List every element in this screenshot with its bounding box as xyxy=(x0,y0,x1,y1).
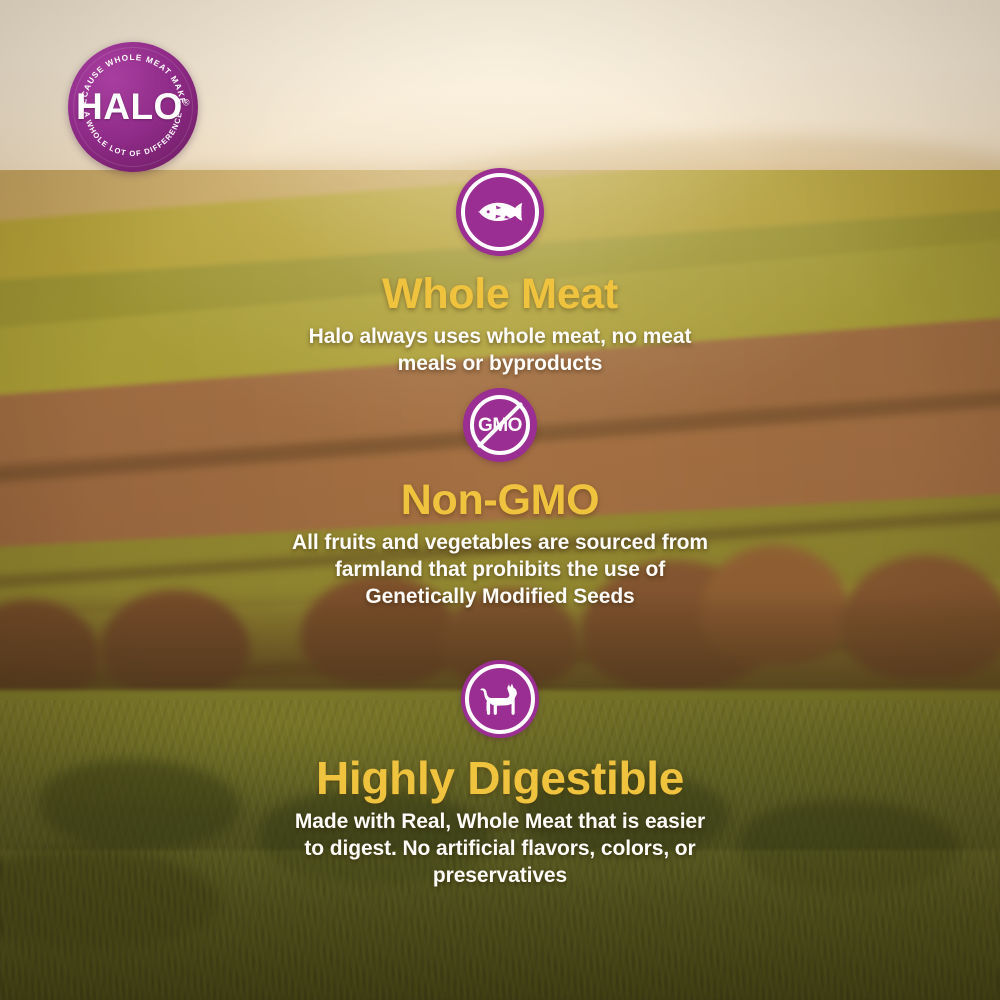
logo-wordmark: HALO® xyxy=(68,88,198,125)
feature-non-gmo: GMO Non-GMO All fruits and vegetables ar… xyxy=(0,388,1000,610)
feature-title: Highly Digestible xyxy=(0,755,1000,802)
trademark-symbol: ® xyxy=(183,97,190,107)
halo-logo[interactable]: BECAUSE WHOLE MEAT MAKES A WHOLE LOT OF … xyxy=(68,42,198,172)
dog-icon-badge xyxy=(461,660,539,738)
feature-description: All fruits and vegetables are sourced fr… xyxy=(285,530,715,611)
gmo-label: GMO xyxy=(478,416,522,435)
feature-description: Made with Real, Whole Meat that is easie… xyxy=(290,809,710,890)
feature-title: Non-GMO xyxy=(0,479,1000,523)
feature-title: Whole Meat xyxy=(0,273,1000,317)
dog-icon xyxy=(478,680,522,718)
fish-icon xyxy=(475,197,525,227)
no-gmo-icon: GMO xyxy=(470,395,530,455)
feature-highly-digestible: Highly Digestible Made with Real, Whole … xyxy=(0,660,1000,890)
feature-description: Halo always uses whole meat, no meat mea… xyxy=(280,324,720,378)
fish-icon-badge xyxy=(456,168,544,256)
no-gmo-icon-badge: GMO xyxy=(463,388,537,462)
feature-whole-meat: Whole Meat Halo always uses whole meat, … xyxy=(0,168,1000,378)
